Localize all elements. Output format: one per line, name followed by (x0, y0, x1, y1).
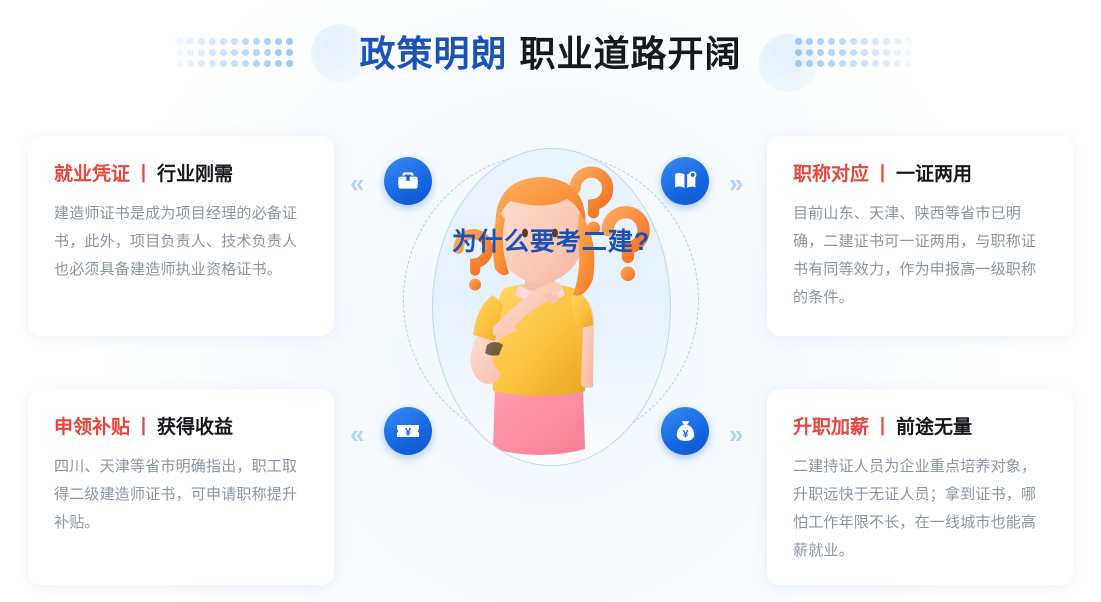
card-title-separator: 丨 (873, 164, 892, 185)
card-promotion-raise[interactable]: 升职加薪丨前途无量 二建持证人员为企业重点培养对象，升职远快于无证人员；拿到证书… (767, 389, 1073, 585)
card-body-text: 目前山东、天津、陕西等省市已明确，二建证书可一证两用，与职称证书有同等效力，作为… (793, 200, 1047, 312)
card-apply-subsidy[interactable]: 申领补贴丨获得收益 四川、天津等省市明确指出，职工取得二级建造师证书，可申请职称… (28, 389, 334, 585)
page-title-highlight: 政策明朗 (359, 33, 507, 74)
card-title-subtitle: 一证两用 (896, 164, 972, 185)
money-bag-yuan-icon[interactable]: ¥ (661, 407, 709, 455)
card-title-subtitle: 前途无量 (896, 417, 972, 438)
card-title-correspondence[interactable]: 职称对应丨一证两用 目前山东、天津、陕西等省市已明确，二建证书可一证两用，与职称… (767, 136, 1073, 336)
center-question-title: 为什么要考二建? (380, 222, 722, 258)
inner-circle-background (432, 148, 671, 466)
briefcase-icon[interactable] (384, 157, 432, 205)
card-title: 申领补贴丨获得收益 (54, 415, 308, 441)
card-title-separator: 丨 (134, 164, 153, 185)
card-employment-credential[interactable]: 就业凭证丨行业刚需 建造师证书是成为项目经理的必备证书，此外，项目负责人、技术负… (28, 136, 334, 336)
card-title-highlight: 升职加薪 (793, 417, 869, 438)
card-body-text: 建造师证书是成为项目经理的必备证书，此外，项目负责人、技术负责人也必须具备建造师… (54, 200, 308, 284)
promo-banner: 政策明朗职业道路开阔 就业凭证丨行业刚需 建造师证书是成为项目经理的必备证书，此… (0, 0, 1101, 602)
card-title-subtitle: 获得收益 (157, 417, 233, 438)
chevron-left-icon-bottom: « (350, 421, 364, 447)
chevron-right-icon-bottom: » (729, 421, 743, 447)
card-title-highlight: 申领补贴 (54, 417, 130, 438)
girl-body (471, 177, 595, 455)
card-title-highlight: 就业凭证 (54, 164, 130, 185)
card-title-highlight: 职称对应 (793, 164, 869, 185)
svg-text:¥: ¥ (682, 428, 689, 440)
card-title: 职称对应丨一证两用 (793, 162, 1047, 188)
chevron-left-icon-top: « (350, 170, 364, 196)
card-title: 就业凭证丨行业刚需 (54, 162, 308, 188)
book-certificate-icon[interactable] (661, 157, 709, 205)
card-title-subtitle: 行业刚需 (157, 164, 233, 185)
card-title: 升职加薪丨前途无量 (793, 415, 1047, 441)
card-title-separator: 丨 (134, 417, 153, 438)
thinking-girl-illustration (433, 149, 671, 466)
card-title-separator: 丨 (873, 417, 892, 438)
card-body-text: 二建持证人员为企业重点培养对象，升职远快于无证人员；拿到证书，哪怕工作年限不长，… (793, 453, 1047, 565)
svg-text:¥: ¥ (405, 427, 412, 439)
voucher-yuan-icon[interactable]: ¥ (384, 407, 432, 455)
page-title-rest: 职业道路开阔 (520, 33, 742, 74)
card-body-text: 四川、天津等省市明确指出，职工取得二级建造师证书，可申请职称提升补贴。 (54, 453, 308, 537)
page-title: 政策明朗职业道路开阔 (0, 28, 1101, 80)
chevron-right-icon-top: » (729, 170, 743, 196)
header: 政策明朗职业道路开阔 (0, 0, 1101, 110)
center-graphic: 为什么要考二建? ¥ (380, 128, 722, 472)
